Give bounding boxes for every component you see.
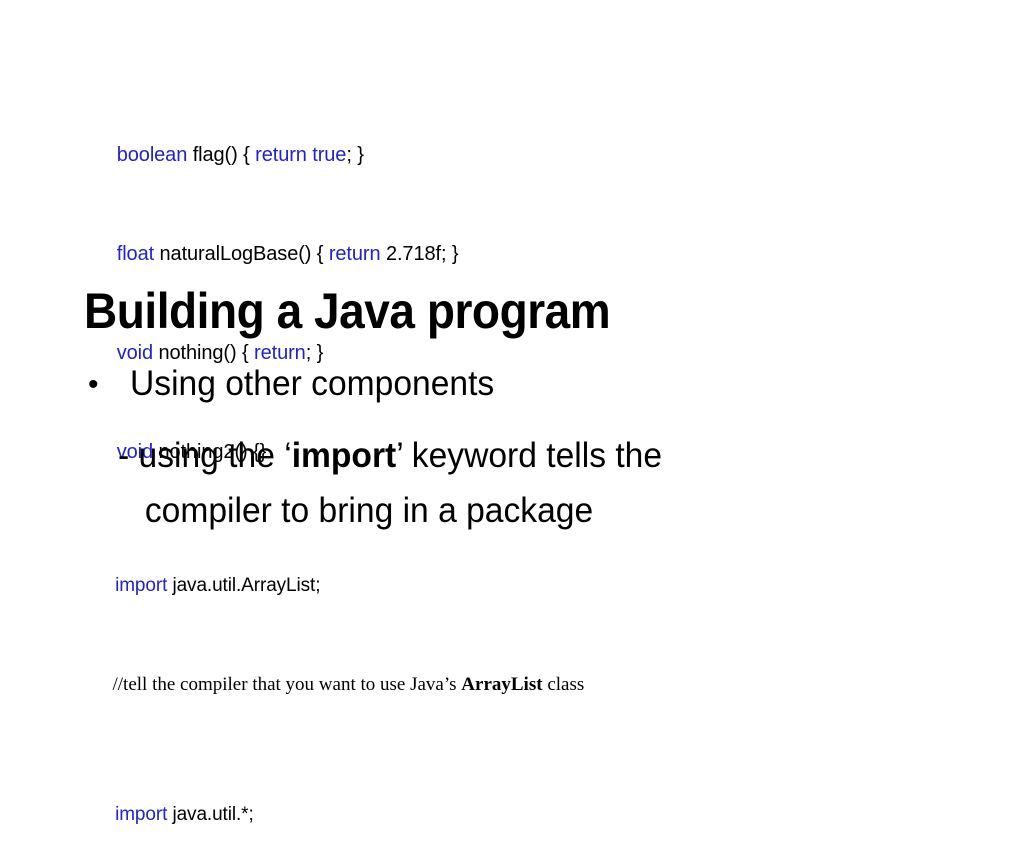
comment-bold-arraylist: ArrayList — [461, 674, 542, 695]
bullet-label: Using other components — [130, 362, 494, 406]
code-line-boolean-flag: boolean flag() { return true; } — [84, 106, 944, 205]
keyword-return: return — [254, 342, 306, 364]
subbullet-bold-import: import — [292, 436, 397, 475]
slide-canvas: boolean flag() { return true; } float na… — [0, 0, 1024, 768]
code-text: java.util.ArrayList; — [167, 575, 320, 596]
keyword-boolean: boolean — [117, 144, 187, 166]
keyword-void: void — [117, 342, 153, 364]
bullet-item-using-other-components: • Using other components — [84, 362, 984, 408]
code-text: ; } — [306, 342, 324, 364]
comment-suffix: class — [543, 674, 585, 695]
subbullet-prefix: - using the ‘ — [118, 436, 292, 475]
code-text: 2.718f; } — [381, 243, 459, 265]
code-line-import-arraylist: import java.util.ArrayList; — [84, 536, 984, 635]
code-line-import-wildcard: import java.util.*; — [84, 765, 984, 864]
bullet-dot-icon: • — [84, 362, 130, 408]
code-text: java.util.*; — [167, 804, 253, 825]
subbullet-import-keyword: - using the ‘import’ keyword tells the c… — [118, 428, 1018, 538]
keyword-import: import — [115, 575, 167, 596]
code-text: ; } — [346, 144, 364, 166]
keyword-return-true: return true — [255, 144, 346, 166]
subbullet-line-1: - using the ‘import’ keyword tells the — [118, 428, 982, 483]
code-text: naturalLogBase() { — [154, 243, 329, 265]
code-comment-arraylist: //tell the compiler that you want to use… — [84, 635, 984, 734]
code-text: nothing() { — [153, 342, 254, 364]
slide-title: Building a Java program — [84, 283, 894, 340]
comment-prefix: //tell the compiler that you want to use… — [113, 674, 462, 695]
code-text: flag() { — [187, 144, 255, 166]
subbullet-suffix: ’ keyword tells the — [396, 436, 662, 475]
keyword-import: import — [115, 804, 167, 825]
keyword-return: return — [329, 243, 381, 265]
keyword-float: float — [117, 243, 154, 265]
code-block-imports: import java.util.ArrayList; //tell the c… — [84, 536, 984, 864]
subbullet-line-2: compiler to bring in a package — [118, 483, 982, 538]
code-block-spacer — [84, 734, 984, 765]
